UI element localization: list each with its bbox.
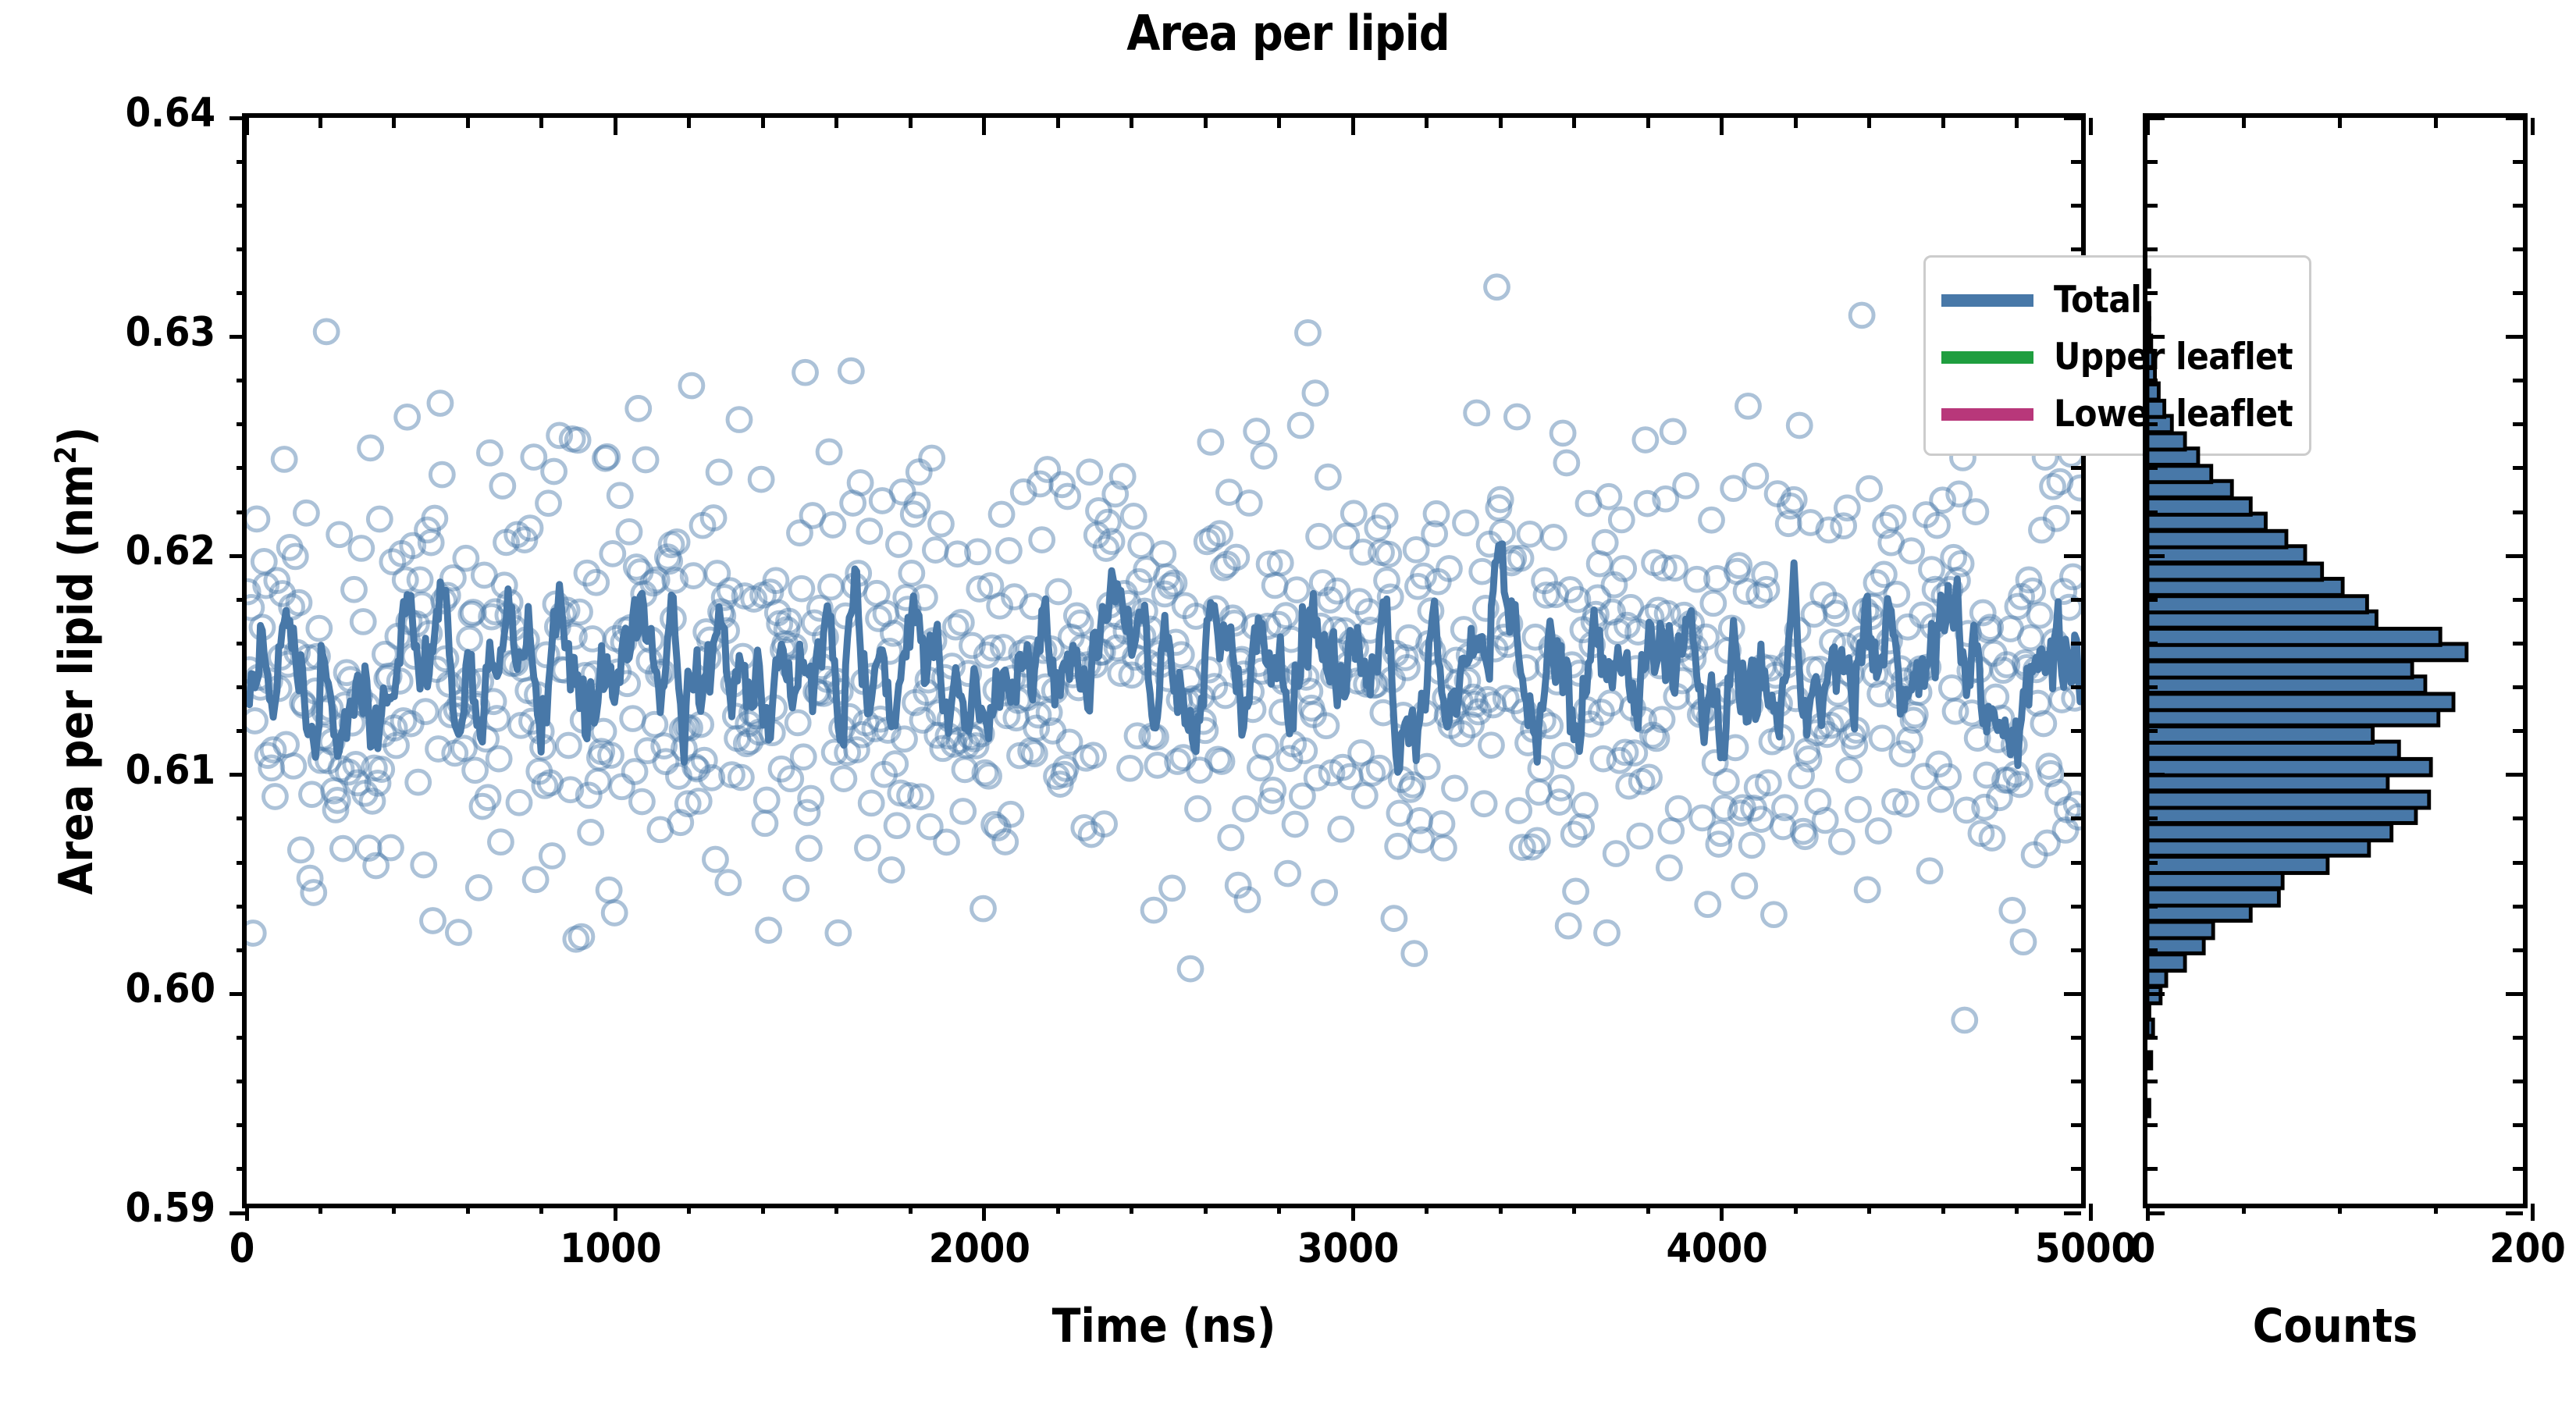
y-major-tick-right — [2064, 992, 2081, 996]
hist-y-major-tick — [2147, 773, 2165, 777]
x-minor-tick-top — [1646, 118, 1650, 128]
x-minor-tick-top — [539, 118, 543, 128]
x-minor-tick-top — [1425, 118, 1429, 128]
x-minor-tick — [1056, 1204, 1060, 1214]
y-minor-tick-right — [2071, 685, 2081, 689]
hist-y-minor-tick — [2147, 905, 2158, 909]
x-minor-tick-top — [687, 118, 691, 128]
y-tick-label: 0.64 — [126, 90, 215, 137]
x-major-tick-top — [2089, 118, 2093, 135]
hist-y-minor-tick-right — [2513, 1123, 2523, 1127]
x-minor-tick — [318, 1204, 322, 1214]
x-minor-tick — [909, 1204, 913, 1214]
hist-y-major-tick — [2147, 554, 2165, 558]
hist-x-tick-label: 0 — [2130, 1225, 2156, 1272]
x-minor-tick-top — [1941, 118, 1945, 128]
hist-y-minor-tick-right — [2513, 861, 2523, 865]
legend-swatch-icon — [1941, 408, 2033, 421]
y-minor-tick-right — [2071, 1080, 2081, 1083]
x-tick-label: 0 — [229, 1225, 255, 1272]
x-minor-tick-top — [1572, 118, 1576, 128]
x-minor-tick — [761, 1204, 765, 1214]
x-minor-tick-top — [318, 118, 322, 128]
x-major-tick — [2089, 1204, 2093, 1221]
hist-y-minor-tick — [2147, 816, 2158, 820]
hist-y-minor-tick — [2147, 685, 2158, 689]
main-x-tick-labels: 010002000300040005000 — [242, 1215, 2086, 1285]
x-major-tick-top — [1720, 118, 1724, 135]
y-minor-tick-right — [2071, 466, 2081, 470]
hist-y-minor-tick-right — [2513, 1080, 2523, 1083]
x-minor-tick-top — [1794, 118, 1798, 128]
x-minor-tick — [1277, 1204, 1281, 1214]
hist-y-minor-tick — [2147, 422, 2158, 426]
x-tick-label: 5000 — [2035, 1225, 2137, 1272]
y-minor-tick-right — [2071, 816, 2081, 820]
hist-x-minor-tick-top — [2242, 118, 2246, 128]
hist-y-minor-tick-right — [2513, 598, 2523, 602]
hist-x-major-tick-top — [2531, 118, 2535, 135]
hist-y-minor-tick-right — [2513, 466, 2523, 470]
hist-x-major-tick-top — [2146, 118, 2150, 135]
x-minor-tick-top — [909, 118, 913, 128]
legend-swatch-icon — [1941, 351, 2033, 364]
x-minor-tick-top — [1277, 118, 1281, 128]
x-minor-tick-top — [1056, 118, 1060, 128]
hist-y-minor-tick — [2147, 1080, 2158, 1083]
x-minor-tick — [834, 1204, 838, 1214]
line-series-total — [247, 118, 2081, 1204]
x-minor-tick-top — [834, 118, 838, 128]
hist-y-minor-tick — [2147, 466, 2158, 470]
histogram-bars — [2147, 118, 2523, 1204]
hist-y-minor-tick — [2147, 160, 2158, 164]
y-tick-label: 0.62 — [126, 528, 215, 574]
y-tick-label: 0.63 — [126, 309, 215, 356]
x-minor-tick — [392, 1204, 396, 1214]
hist-x-minor-tick — [2434, 1204, 2438, 1214]
x-tick-label: 3000 — [1297, 1225, 1399, 1272]
hist-y-major-tick — [2147, 116, 2165, 120]
x-minor-tick — [1204, 1204, 1208, 1214]
y-tick-label: 0.61 — [126, 747, 215, 794]
y-minor-tick-right — [2071, 160, 2081, 164]
x-minor-tick-top — [1130, 118, 1133, 128]
x-minor-tick — [1646, 1204, 1650, 1214]
hist-y-minor-tick-right — [2513, 685, 2523, 689]
hist-y-minor-tick — [2147, 598, 2158, 602]
y-major-tick-right — [2064, 554, 2081, 558]
hist-y-minor-tick — [2147, 1036, 2158, 1040]
hist-y-minor-tick — [2147, 247, 2158, 251]
x-minor-tick — [1130, 1204, 1133, 1214]
hist-y-major-tick — [2147, 335, 2165, 339]
hist-y-minor-tick — [2147, 379, 2158, 382]
histogram-x-tick-labels: 0200 — [2143, 1215, 2528, 1285]
x-minor-tick — [1572, 1204, 1576, 1214]
hist-y-minor-tick — [2147, 642, 2158, 646]
x-major-tick-top — [1351, 118, 1355, 135]
hist-y-minor-tick — [2147, 1123, 2158, 1127]
legend-swatch-icon — [1941, 294, 2033, 307]
y-tick-label: 0.59 — [126, 1185, 215, 1232]
hist-y-minor-tick-right — [2513, 1167, 2523, 1171]
y-minor-tick-right — [2071, 1167, 2081, 1171]
x-minor-tick-top — [2015, 118, 2019, 128]
hist-y-minor-tick-right — [2513, 160, 2523, 164]
histogram-clip — [2147, 118, 2523, 1204]
y-axis-title: Area per lipid (nm2) — [48, 113, 104, 1208]
hist-x-minor-tick-top — [2434, 118, 2438, 128]
y-minor-tick-right — [2071, 948, 2081, 952]
x-tick-label: 1000 — [560, 1225, 661, 1272]
x-minor-tick — [1794, 1204, 1798, 1214]
y-major-tick-right — [2064, 116, 2081, 120]
x-minor-tick-top — [392, 118, 396, 128]
x-minor-tick-top — [466, 118, 470, 128]
x-major-tick-top — [614, 118, 617, 135]
x-axis-title: Time (ns) — [242, 1299, 2086, 1353]
hist-y-minor-tick-right — [2513, 379, 2523, 382]
x-minor-tick-top — [1499, 118, 1503, 128]
x-minor-tick — [539, 1204, 543, 1214]
histogram-axes — [2143, 113, 2528, 1208]
hist-y-minor-tick — [2147, 948, 2158, 952]
y-minor-tick-right — [2071, 247, 2081, 251]
hist-y-minor-tick-right — [2513, 510, 2523, 514]
hist-y-major-tick-right — [2506, 116, 2523, 120]
hist-y-minor-tick — [2147, 1167, 2158, 1171]
hist-y-minor-tick-right — [2513, 948, 2523, 952]
y-major-tick-right — [2064, 773, 2081, 777]
y-tick-label: 0.60 — [126, 966, 215, 1012]
page-title: Area per lipid — [0, 5, 2576, 62]
hist-y-minor-tick — [2147, 861, 2158, 865]
hist-y-minor-tick-right — [2513, 247, 2523, 251]
hist-x-tick-label: 200 — [2489, 1225, 2566, 1272]
x-minor-tick-top — [1867, 118, 1871, 128]
hist-y-minor-tick — [2147, 204, 2158, 208]
x-minor-tick-top — [761, 118, 765, 128]
x-minor-tick — [1425, 1204, 1429, 1214]
main-plot-clip — [247, 118, 2081, 1204]
hist-y-minor-tick-right — [2513, 291, 2523, 295]
hist-y-major-tick-right — [2506, 554, 2523, 558]
hist-x-major-tick — [2531, 1204, 2535, 1221]
y-minor-tick-right — [2071, 204, 2081, 208]
y-minor-tick-right — [2071, 510, 2081, 514]
hist-y-minor-tick-right — [2513, 422, 2523, 426]
y-minor-tick-right — [2071, 729, 2081, 733]
y-minor-tick-right — [2071, 861, 2081, 865]
hist-y-minor-tick — [2147, 729, 2158, 733]
x-minor-tick — [1941, 1204, 1945, 1214]
hist-y-major-tick-right — [2506, 335, 2523, 339]
hist-y-minor-tick-right — [2513, 905, 2523, 909]
hist-y-minor-tick — [2147, 510, 2158, 514]
y-minor-tick-right — [2071, 1036, 2081, 1040]
hist-y-minor-tick-right — [2513, 204, 2523, 208]
hist-x-minor-tick-top — [2338, 118, 2342, 128]
x-major-tick-top — [982, 118, 986, 135]
hist-y-major-tick — [2147, 992, 2165, 996]
x-tick-label: 2000 — [929, 1225, 1030, 1272]
hist-y-minor-tick-right — [2513, 1036, 2523, 1040]
x-tick-label: 4000 — [1666, 1225, 1767, 1272]
hist-y-minor-tick — [2147, 291, 2158, 295]
x-major-tick-top — [245, 118, 249, 135]
x-minor-tick — [687, 1204, 691, 1214]
hist-x-minor-tick — [2242, 1204, 2246, 1214]
hist-y-major-tick-right — [2506, 992, 2523, 996]
x-minor-tick — [1499, 1204, 1503, 1214]
figure-canvas: Area per lipid TotalUpper leafletLower l… — [0, 0, 2576, 1405]
hist-y-minor-tick-right — [2513, 816, 2523, 820]
legend-item-label: Total — [2054, 282, 2141, 318]
main-plot-axes: TotalUpper leafletLower leaflet — [242, 113, 2086, 1208]
x-minor-tick-top — [1204, 118, 1208, 128]
histogram-x-axis-title: Counts — [2143, 1299, 2528, 1353]
hist-y-minor-tick-right — [2513, 729, 2523, 733]
main-y-tick-labels: 0.590.600.610.620.630.64 — [0, 0, 242, 1405]
x-minor-tick — [466, 1204, 470, 1214]
y-minor-tick-right — [2071, 642, 2081, 646]
y-minor-tick-right — [2071, 905, 2081, 909]
y-minor-tick-right — [2071, 598, 2081, 602]
hist-y-major-tick-right — [2506, 773, 2523, 777]
x-minor-tick — [2015, 1204, 2019, 1214]
y-minor-tick-right — [2071, 1123, 2081, 1127]
x-minor-tick — [1867, 1204, 1871, 1214]
hist-y-minor-tick-right — [2513, 642, 2523, 646]
hist-x-minor-tick — [2338, 1204, 2342, 1214]
